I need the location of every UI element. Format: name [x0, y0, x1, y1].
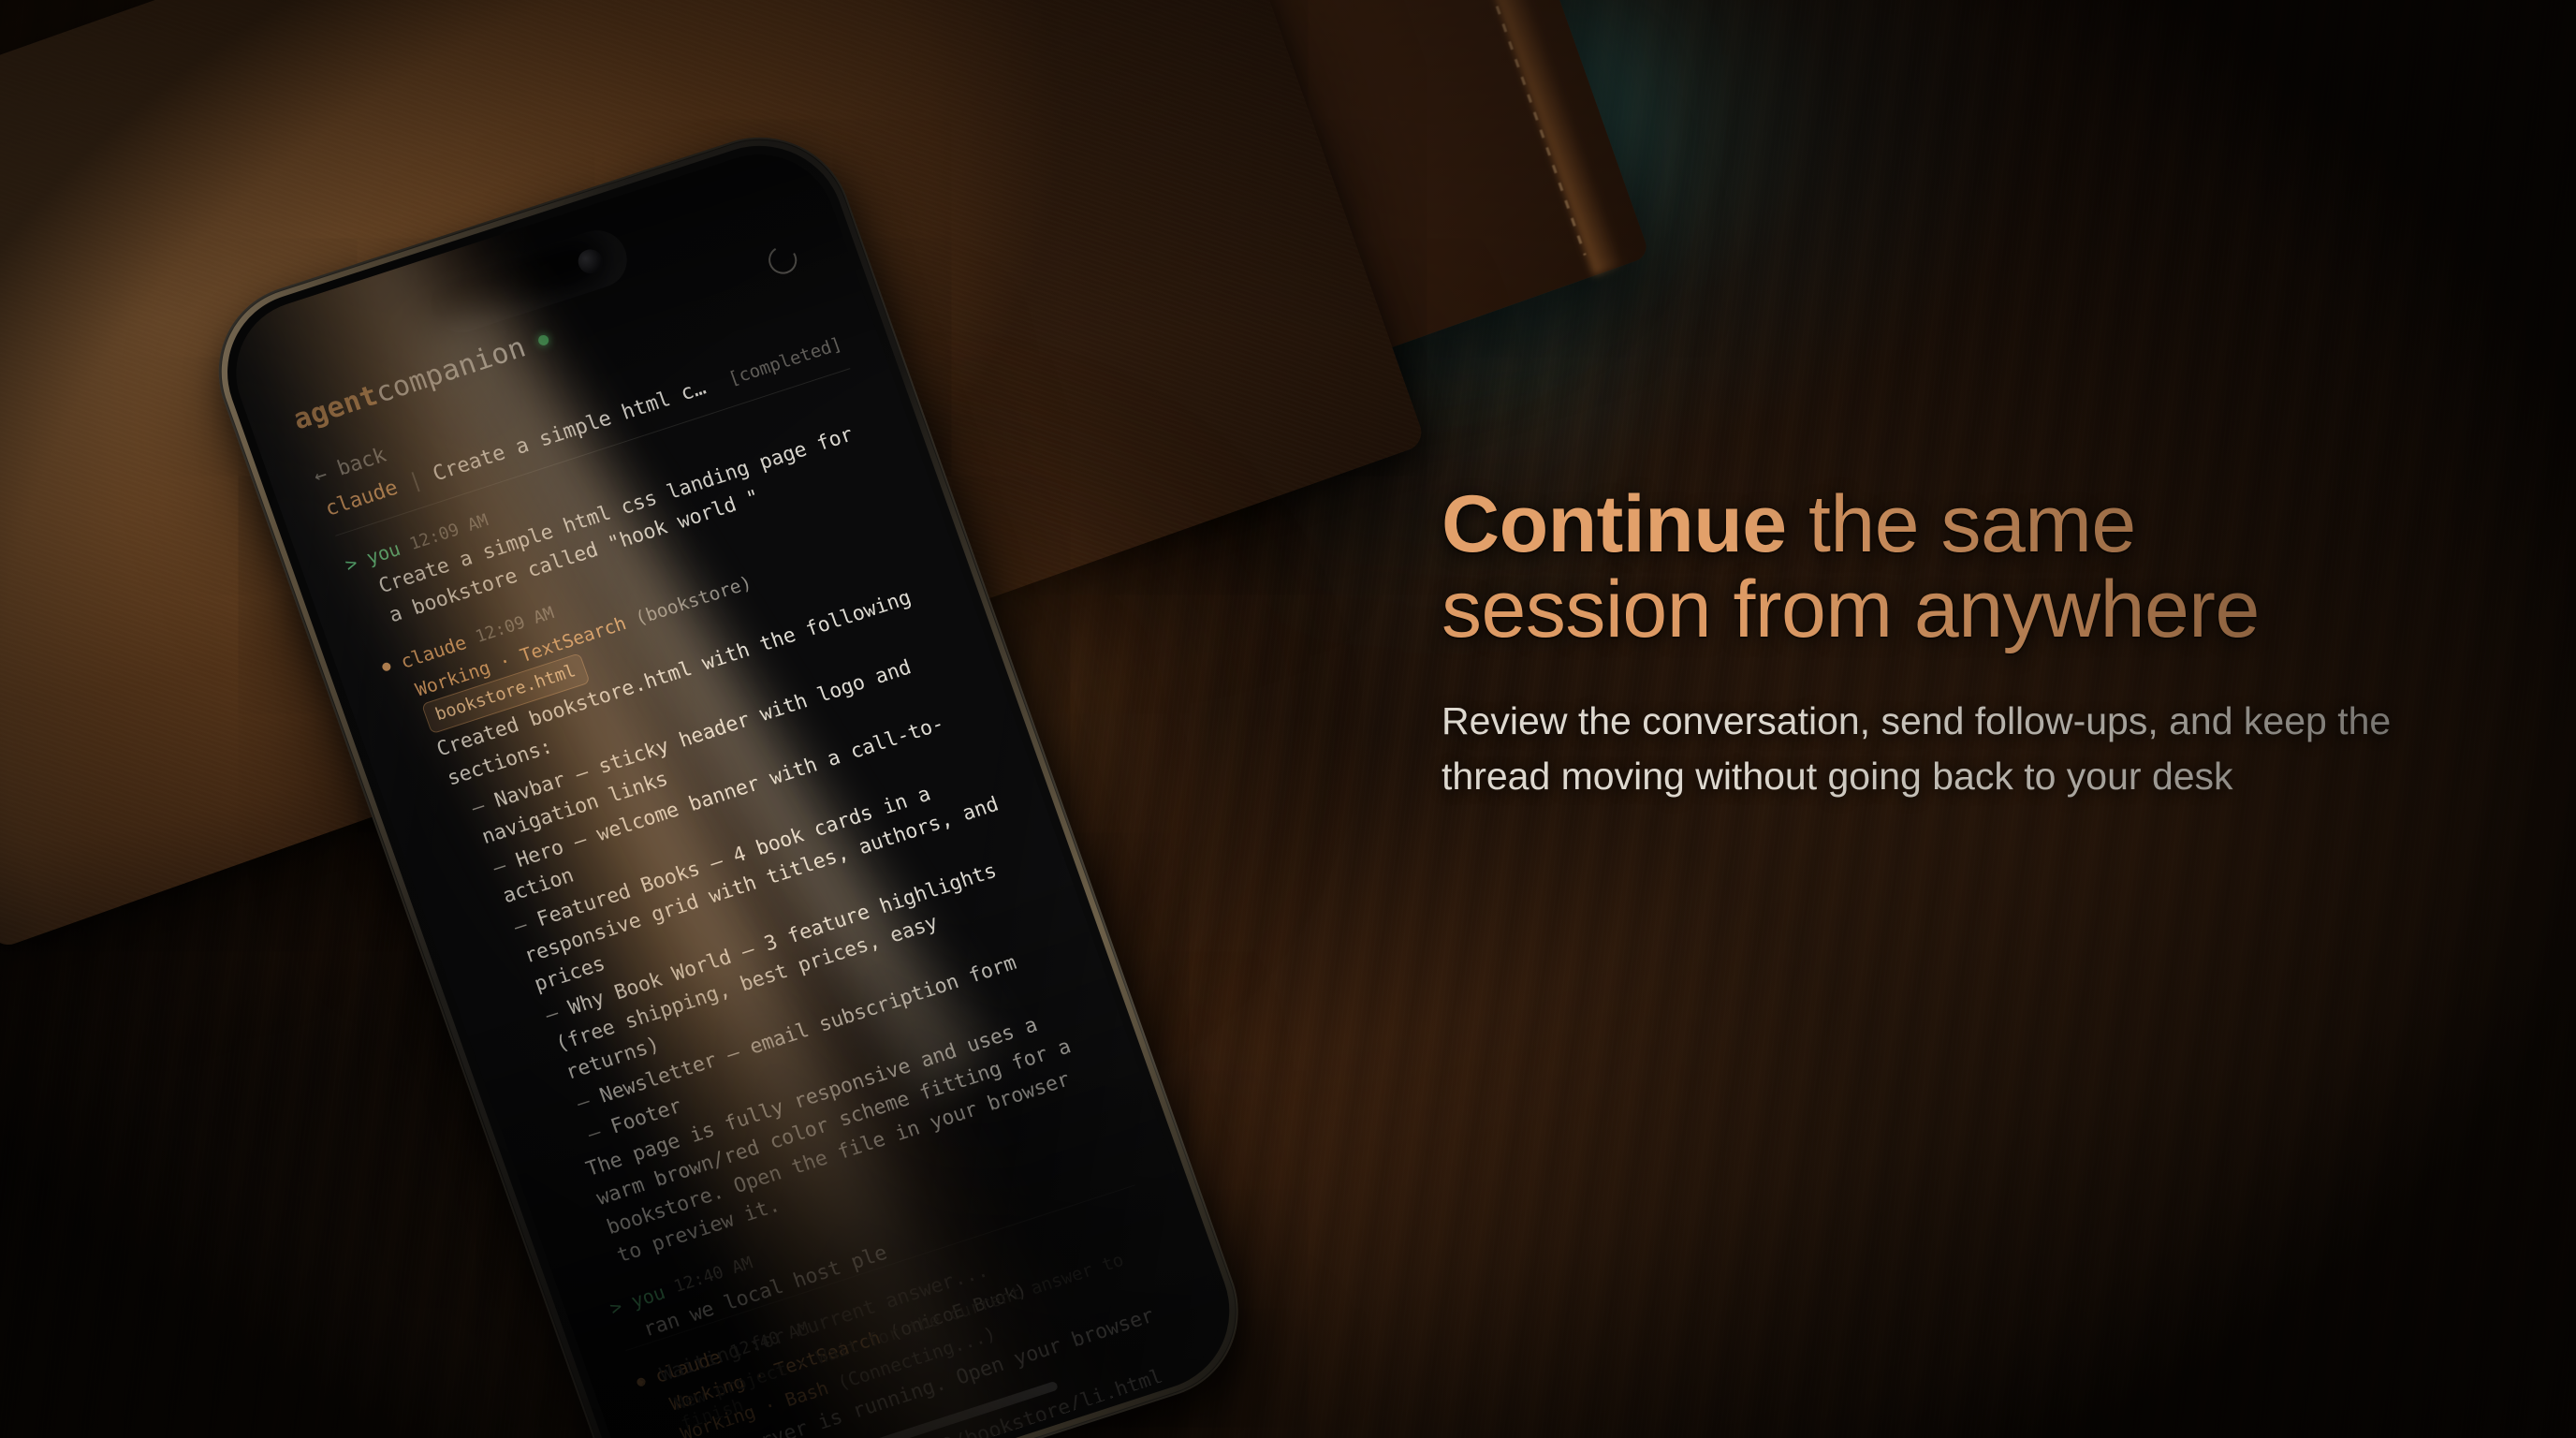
headline-emphasis: Continue — [1442, 479, 1787, 569]
front-camera-icon — [575, 246, 606, 277]
brand-primary: agent — [289, 379, 383, 437]
prompt-caret-icon: > — [606, 1292, 626, 1322]
headline: Continue the same session from anywhere — [1442, 482, 2471, 653]
online-status-dot — [537, 333, 550, 346]
composer-chevron-icon: › — [633, 1369, 651, 1394]
headline-rest-line1: the same — [1787, 479, 2136, 569]
photo-scene: agentcompanion ← back claude | Create a … — [0, 0, 2576, 1438]
tab-divider: | — [405, 468, 425, 494]
assistant-status-dot-icon — [381, 662, 392, 672]
subcopy: Review the conversation, send follow-ups… — [1442, 694, 2471, 802]
prompt-caret-icon: > — [342, 549, 362, 579]
marketing-copy: Continue the same session from anywhere … — [1442, 482, 2471, 803]
brand-secondary: companion — [372, 330, 531, 409]
headline-line2: session from anywhere — [1442, 565, 2260, 654]
